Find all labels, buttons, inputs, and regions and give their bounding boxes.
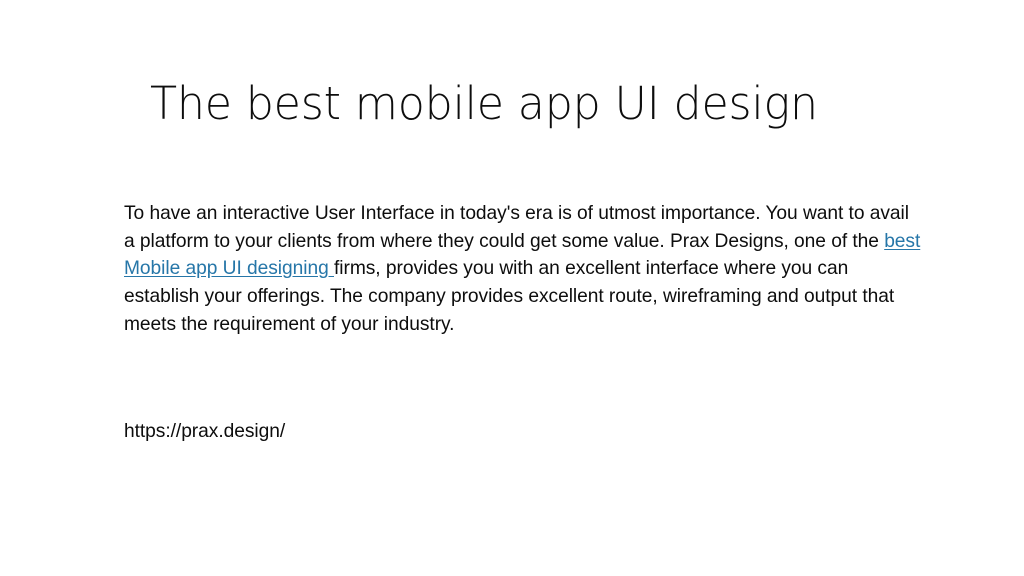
website-url-text: https://prax.design/ <box>124 418 285 446</box>
body-text-block: To have an interactive User Interface in… <box>124 200 924 339</box>
page-title: The best mobile app UI design <box>150 77 899 130</box>
body-text-before-link: To have an interactive User Interface in… <box>124 203 909 252</box>
body-paragraph: To have an interactive User Interface in… <box>124 200 924 339</box>
slide-canvas: The best mobile app UI design To have an… <box>0 0 1024 576</box>
